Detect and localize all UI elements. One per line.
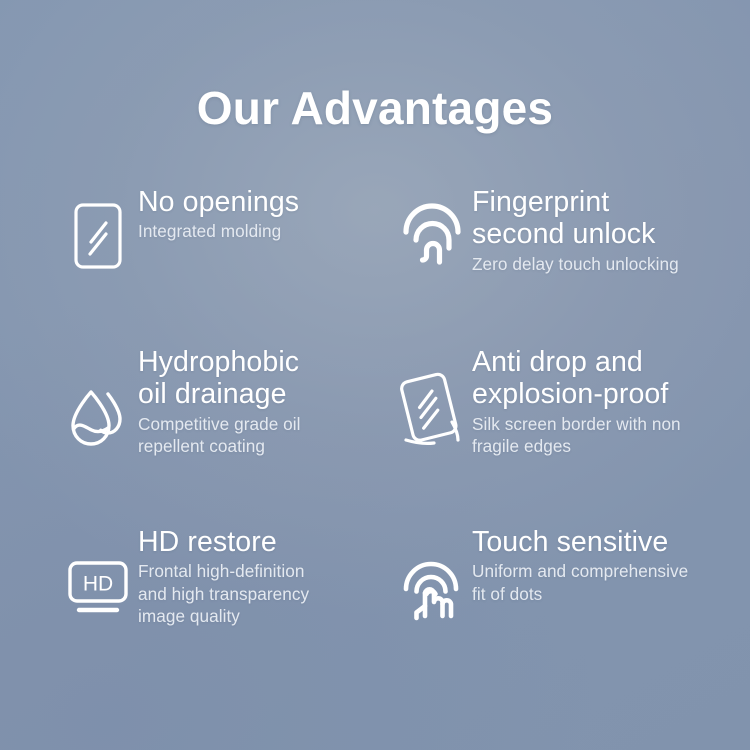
water-droplet-icon: [62, 386, 134, 450]
feature-subtitle: Zero delay touch unlocking: [472, 253, 726, 275]
feature-title: HD restore: [138, 526, 392, 558]
feature-subtitle: Silk screen border with non fragile edge…: [472, 413, 726, 458]
feature-item-fingerprint: Fingerprint second unlock Zero delay tou…: [396, 186, 726, 275]
features-grid: No openings Integrated molding Fingerpri…: [0, 186, 750, 686]
page-title: Our Advantages: [197, 84, 553, 132]
feature-text-block: No openings Integrated molding: [134, 186, 392, 243]
feature-text-block: Fingerprint second unlock Zero delay tou…: [468, 186, 726, 275]
feature-text-block: Hydrophobic oil drainage Competitive gra…: [134, 346, 392, 458]
feature-text-block: HD restore Frontal high-definition and h…: [134, 526, 392, 628]
feature-subtitle: Competitive grade oil repellent coating: [138, 413, 392, 458]
feature-title: Fingerprint second unlock: [472, 186, 726, 251]
page-title-wrap: Our Advantages: [0, 84, 750, 132]
touch-hand-icon: [396, 556, 468, 622]
feature-title: Touch sensitive: [472, 526, 726, 558]
hd-monitor-icon: HD: [62, 560, 134, 614]
feature-item-hd-restore: HD HD restore Frontal high-definition an…: [62, 526, 392, 628]
feature-title: Hydrophobic oil drainage: [138, 346, 392, 411]
screen-no-openings-icon: [62, 202, 134, 270]
feature-title: Anti drop and explosion-proof: [472, 346, 726, 411]
feature-subtitle: Integrated molding: [138, 220, 392, 242]
feature-subtitle: Frontal high-definition and high transpa…: [138, 560, 392, 627]
feature-item-touch-sensitive: Touch sensitive Uniform and comprehensiv…: [396, 526, 726, 622]
fingerprint-icon: [396, 192, 468, 266]
feature-item-hydrophobic: Hydrophobic oil drainage Competitive gra…: [62, 346, 392, 458]
feature-text-block: Touch sensitive Uniform and comprehensiv…: [468, 526, 726, 605]
feature-item-no-openings: No openings Integrated molding: [62, 186, 392, 270]
tilted-screen-drop-icon: [396, 372, 468, 448]
feature-text-block: Anti drop and explosion-proof Silk scree…: [468, 346, 726, 458]
hd-badge-label: HD: [83, 573, 113, 596]
feature-subtitle: Uniform and comprehensive fit of dots: [472, 560, 726, 605]
feature-item-anti-drop: Anti drop and explosion-proof Silk scree…: [396, 346, 726, 458]
feature-title: No openings: [138, 186, 392, 218]
advantages-poster: Our Advantages No openings Integrated mo…: [0, 0, 750, 750]
